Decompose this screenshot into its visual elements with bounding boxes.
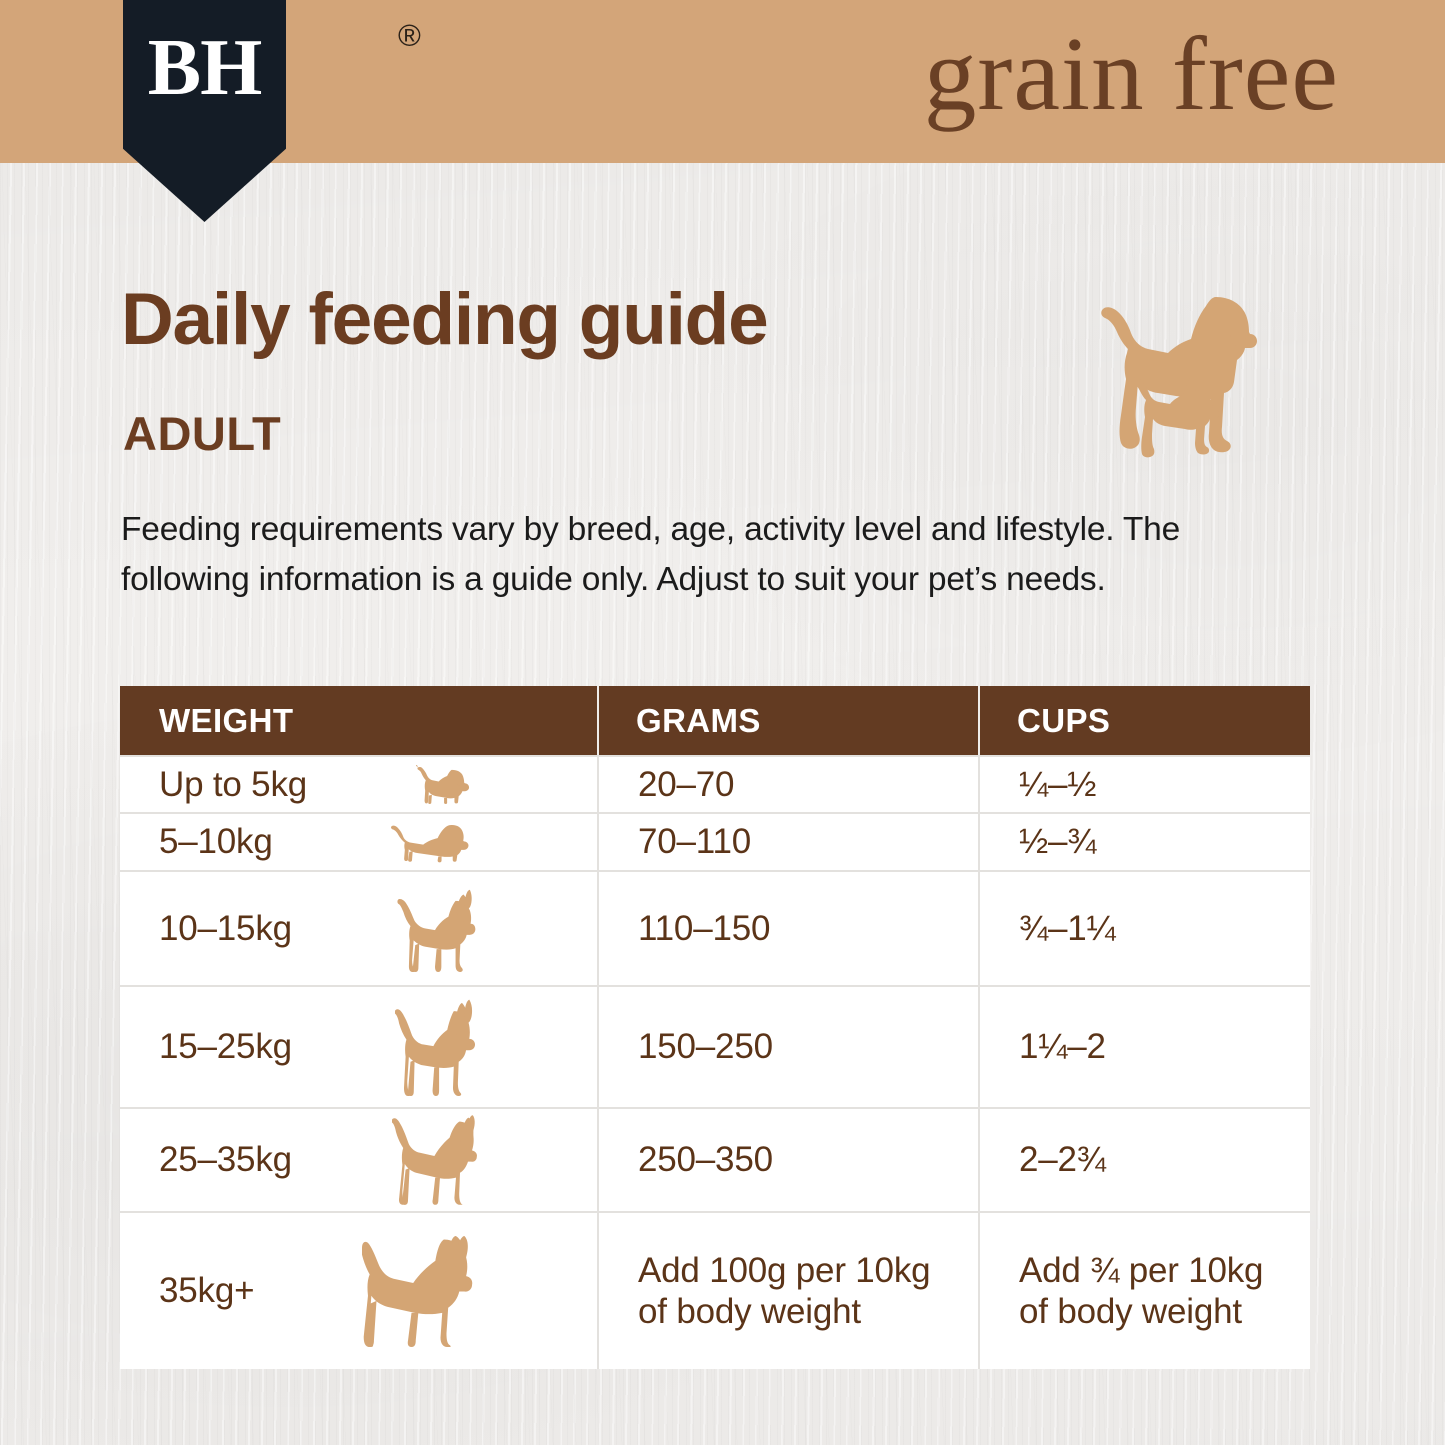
table-row: Up to 5kg 20–70 ¼–½: [120, 755, 1310, 812]
feeding-guide-page: BH ® grain free Daily feeding guide ADUL…: [0, 0, 1445, 1445]
cell-cups: ½–¾: [978, 814, 1310, 870]
weight-label: Up to 5kg: [159, 764, 307, 805]
table-header-row: WEIGHT GRAMS CUPS: [120, 686, 1310, 755]
table-row: 15–25kg 150–250 1¼–2: [120, 985, 1310, 1107]
feeding-table: WEIGHT GRAMS CUPS Up to 5kg: [120, 686, 1310, 1369]
cell-weight: 15–25kg: [120, 987, 597, 1107]
brand-logo-text: BH: [123, 28, 286, 108]
cell-cups: ¼–½: [978, 757, 1310, 812]
weight-label: 35kg+: [159, 1270, 254, 1311]
page-title: Daily feeding guide: [121, 283, 767, 356]
table-row: 10–15kg 110–150 ¾–1¼: [120, 870, 1310, 985]
dog-silhouette-icon: [273, 821, 597, 863]
dog-silhouette-icon: [254, 1236, 597, 1347]
intro-paragraph: Feeding requirements vary by breed, age,…: [121, 505, 1221, 606]
cell-cups: ¾–1¼: [978, 872, 1310, 985]
column-header-weight: WEIGHT: [120, 686, 597, 755]
column-header-cups: CUPS: [978, 686, 1310, 755]
weight-label: 25–35kg: [159, 1139, 292, 1180]
registered-trademark-icon: ®: [398, 18, 421, 54]
weight-label: 15–25kg: [159, 1026, 292, 1067]
table-row: 5–10kg 70–110 ½–¾: [120, 812, 1310, 870]
cell-weight: 35kg+: [120, 1213, 597, 1369]
cell-weight: 10–15kg: [120, 872, 597, 985]
cell-cups: 2–2¾: [978, 1109, 1310, 1211]
cell-weight: Up to 5kg: [120, 757, 597, 812]
dog-silhouette-icon: [292, 885, 597, 972]
cell-cups: 1¼–2: [978, 987, 1310, 1107]
cell-grams: 110–150: [597, 872, 978, 985]
weight-label: 5–10kg: [159, 821, 273, 862]
cell-weight: 25–35kg: [120, 1109, 597, 1211]
dog-silhouette-icon: [292, 1115, 597, 1205]
dog-silhouette-icon: [307, 765, 597, 804]
cell-weight: 5–10kg: [120, 814, 597, 870]
brand-header-band: BH ® grain free: [0, 0, 1445, 163]
life-stage-label: ADULT: [123, 410, 281, 457]
cell-grams: Add 100g per 10kg of body weight: [597, 1213, 978, 1369]
cell-grams: 150–250: [597, 987, 978, 1107]
dog-silhouette-icon: [292, 998, 597, 1096]
cell-cups: Add ¾ per 10kg of body weight: [978, 1213, 1310, 1369]
table-row: 25–35kg 250–350 2–2¾: [120, 1107, 1310, 1211]
brand-logo: BH: [123, 0, 286, 163]
adult-dog-and-puppy-silhouette-icon: [1098, 287, 1298, 467]
column-header-grams: GRAMS: [597, 686, 978, 755]
weight-label: 10–15kg: [159, 908, 292, 949]
cell-grams: 20–70: [597, 757, 978, 812]
cell-grams: 70–110: [597, 814, 978, 870]
table-row: 35kg+ Add 100g per 10kg of body weight A…: [120, 1211, 1310, 1369]
tagline-grain-free: grain free: [924, 8, 1339, 139]
cell-grams: 250–350: [597, 1109, 978, 1211]
